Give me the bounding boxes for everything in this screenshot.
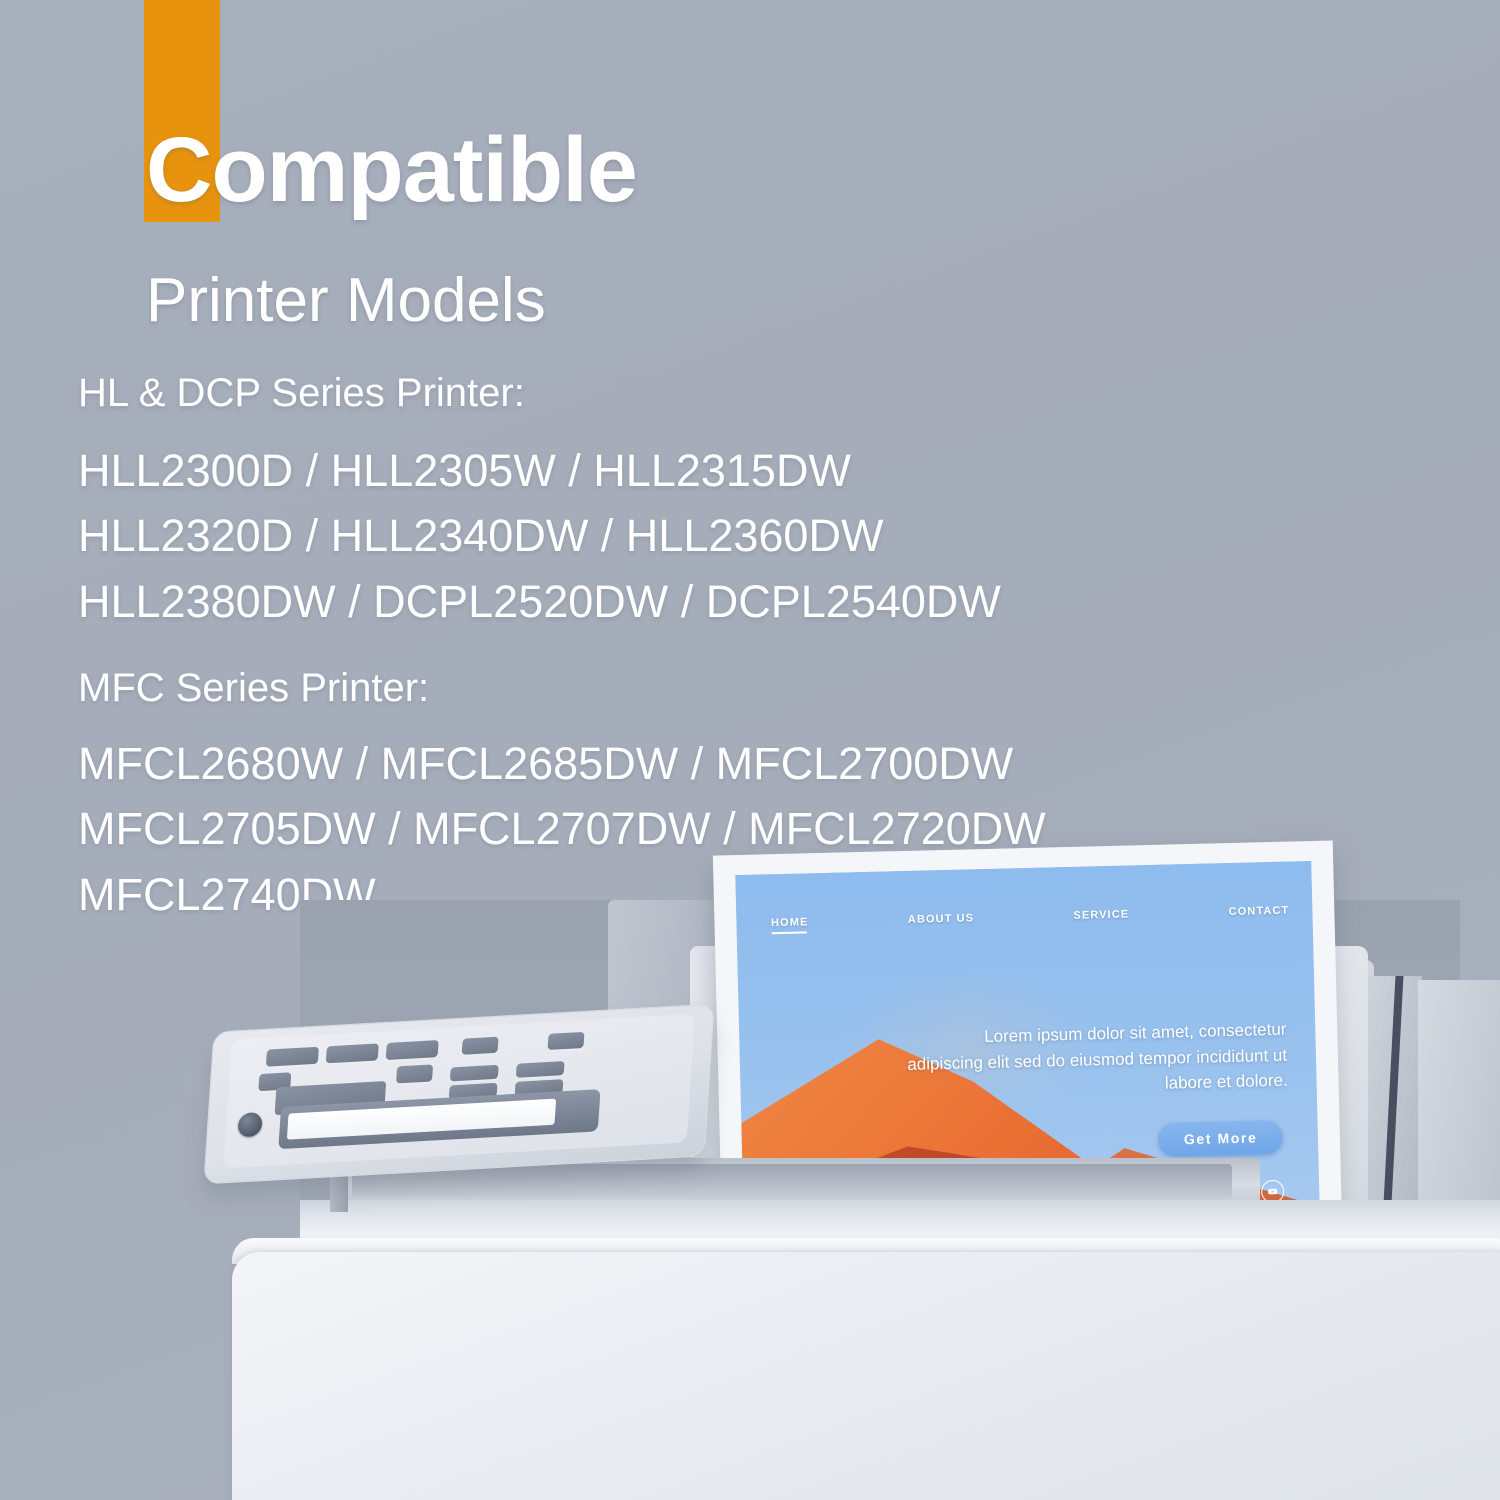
panel-button[interactable] bbox=[462, 1037, 499, 1055]
panel-button[interactable] bbox=[266, 1047, 319, 1067]
paper-output-tray-inner bbox=[352, 1164, 1232, 1198]
nav-item-about-us[interactable]: ABOUT US bbox=[908, 912, 975, 926]
nav-item-home[interactable]: HOME bbox=[771, 916, 809, 929]
model-line: HLL2300D / HLL2305W / HLL2315DW bbox=[78, 438, 1001, 503]
series-title: MFC Series Printer: bbox=[78, 665, 1046, 711]
nav-item-service[interactable]: SERVICE bbox=[1073, 908, 1129, 921]
page-subtitle: Printer Models bbox=[146, 270, 546, 332]
model-line: HLL2320D / HLL2340DW / HLL2360DW bbox=[78, 503, 1001, 568]
panel-button[interactable] bbox=[326, 1043, 379, 1063]
printer-control-panel[interactable] bbox=[203, 1004, 714, 1185]
panel-button[interactable] bbox=[386, 1040, 439, 1060]
series-title: HL & DCP Series Printer: bbox=[78, 370, 1001, 416]
model-line: HLL2380DW / DCPL2520DW / DCPL2540DW bbox=[78, 569, 1001, 634]
get-more-button[interactable]: Get More bbox=[1157, 1120, 1283, 1157]
nav-item-contact[interactable]: CONTACT bbox=[1228, 904, 1289, 917]
printer-body bbox=[232, 1252, 1500, 1500]
poster-canvas: Compatible Printer Models HL & DCP Serie… bbox=[0, 0, 1500, 1500]
page-title: Compatible bbox=[146, 124, 637, 216]
panel-button[interactable] bbox=[516, 1061, 565, 1078]
hero-paragraph: Lorem ipsum dolor sit amet, consectetur … bbox=[906, 1017, 1288, 1103]
panel-button[interactable] bbox=[450, 1065, 499, 1082]
series-block-hl-dcp: HL & DCP Series Printer: HLL2300D / HLL2… bbox=[78, 370, 1001, 634]
panel-button[interactable] bbox=[396, 1064, 433, 1083]
model-line: MFCL2680W / MFCL2685DW / MFCL2700DW bbox=[78, 731, 1046, 796]
printer-illustration: HOME ABOUT US SERVICE CONTACT Lorem ipsu… bbox=[0, 900, 1500, 1500]
model-list: HLL2300D / HLL2305W / HLL2315DW HLL2320D… bbox=[78, 438, 1001, 634]
panel-button[interactable] bbox=[547, 1032, 584, 1050]
